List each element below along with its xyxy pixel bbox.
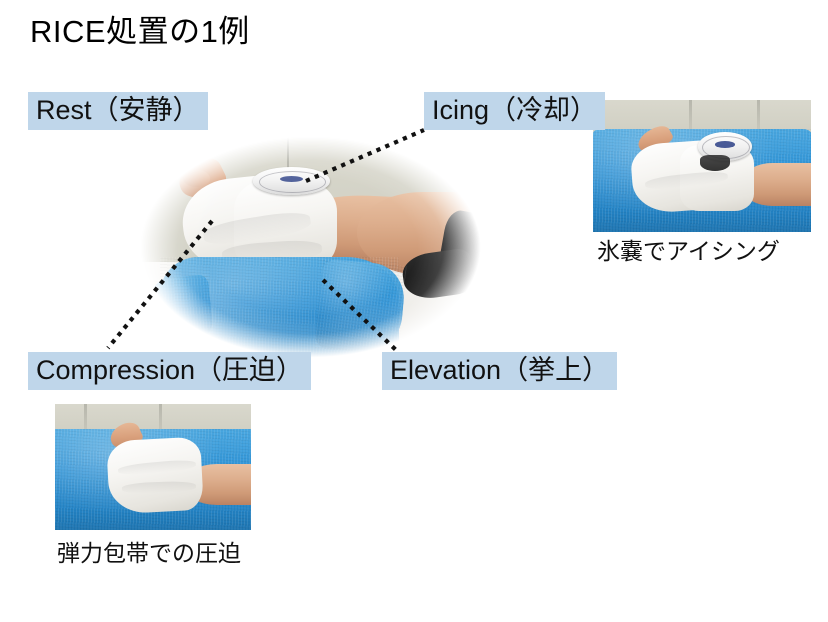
towel-fold-texture <box>146 274 214 345</box>
photo-icing <box>593 100 811 232</box>
blue-towel-fold <box>146 274 214 345</box>
slide-canvas: RICE処置の1例 <box>0 0 828 622</box>
photo-main-scene <box>118 122 503 372</box>
compression-bandage <box>106 437 204 515</box>
caption-compression: 弾力包帯での圧迫 <box>57 538 241 568</box>
photo-icing-scene <box>593 100 811 232</box>
label-icing[interactable]: Icing（冷却） <box>424 92 605 130</box>
towel-edge-texture <box>314 258 406 355</box>
ice-bag-cap-ring <box>259 171 326 193</box>
label-rest[interactable]: Rest（安静） <box>28 92 208 130</box>
label-compression[interactable]: Compression（圧迫） <box>28 352 311 390</box>
photo-compression-scene <box>55 404 251 530</box>
photo-compression <box>55 404 251 530</box>
blue-towel-edge <box>314 258 406 355</box>
icing-ice-bag-logo <box>715 141 735 148</box>
caption-icing: 氷嚢でアイシング <box>597 236 780 266</box>
page-title: RICE処置の1例 <box>30 12 250 52</box>
label-elevation[interactable]: Elevation（挙上） <box>382 352 617 390</box>
ice-bag-logo <box>280 176 303 182</box>
photo-main-rice-treatment <box>118 122 503 372</box>
